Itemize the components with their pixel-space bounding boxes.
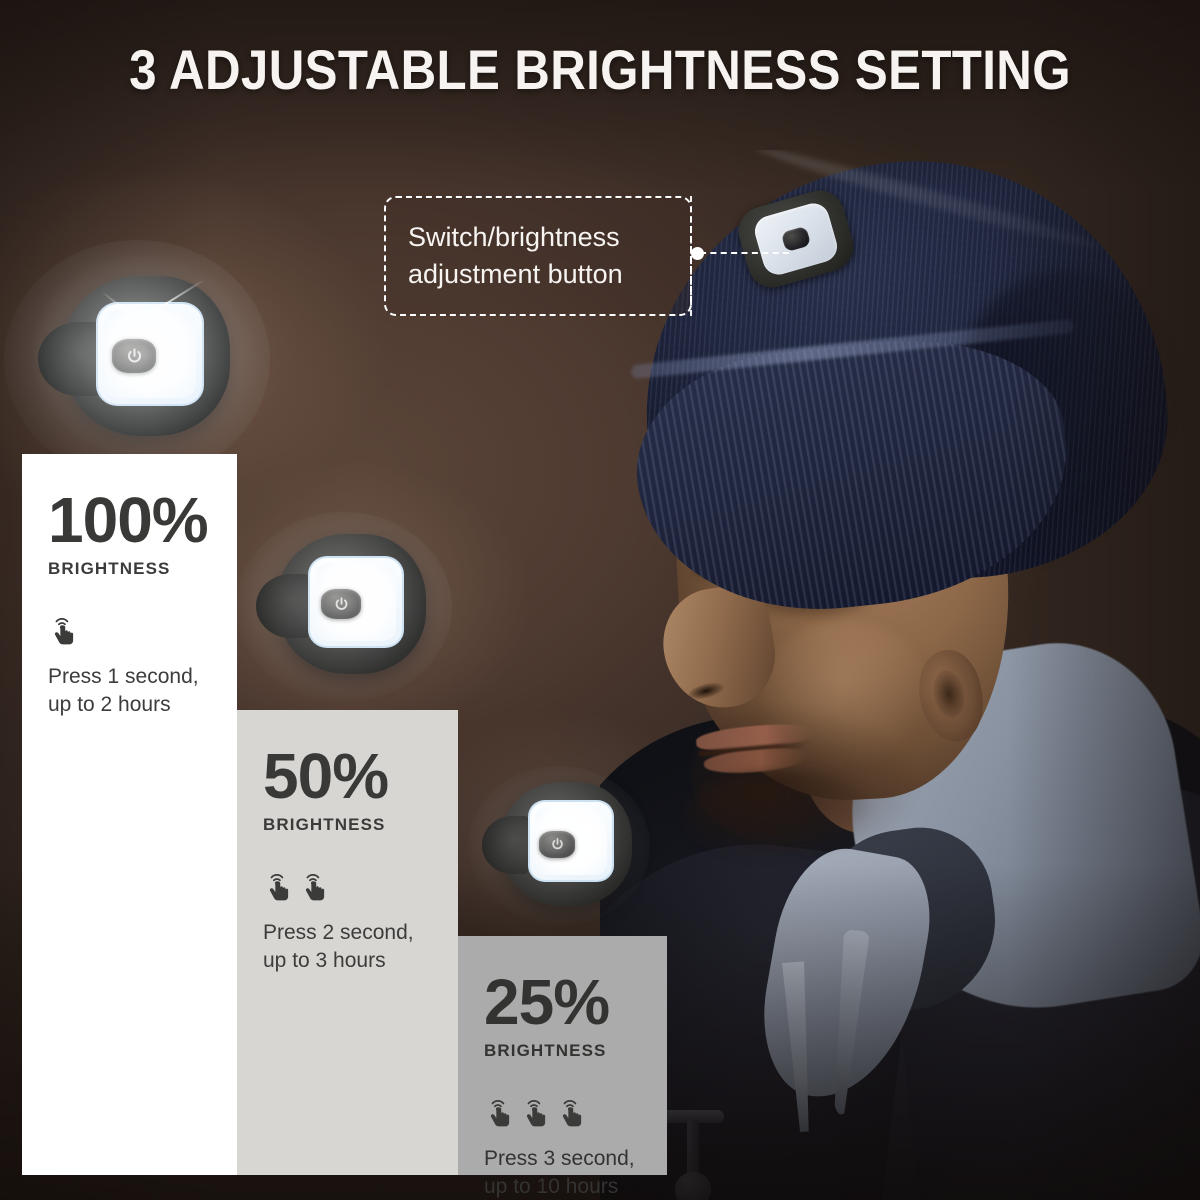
tap-gesture-icon [263, 865, 295, 903]
callout-connector-line [700, 252, 789, 254]
press-instruction-25: Press 3 second, up to 10 hours [484, 1145, 667, 1200]
press-line-2: up to 3 hours [263, 947, 458, 975]
brightness-percent-25: 25% [484, 972, 667, 1033]
press-line-2: up to 10 hours [484, 1173, 667, 1200]
led-clip-tab-25 [482, 816, 534, 874]
power-button-25[interactable] [539, 831, 575, 858]
brightness-panel-25: 25% BRIGHTNESS Press 3 second, up to 10 … [458, 936, 667, 1175]
brightness-label-25: BRIGHTNESS [484, 1041, 667, 1061]
tap-gesture-icon [48, 609, 80, 647]
callout-line-2: adjustment button [408, 256, 668, 293]
power-button-50[interactable] [321, 589, 361, 619]
power-symbol-icon [550, 837, 565, 852]
tap-gesture-icon [484, 1091, 516, 1129]
led-clip-tab-50 [256, 574, 316, 638]
press-instruction-50: Press 2 second, up to 3 hours [263, 919, 458, 975]
brightness-label-100: BRIGHTNESS [48, 559, 237, 579]
callout-line-1: Switch/brightness [408, 219, 668, 256]
tap-gesture-icon [520, 1091, 552, 1129]
power-symbol-icon [125, 347, 144, 366]
press-line-1: Press 2 second, [263, 919, 458, 947]
callout-connector-dot [691, 247, 704, 260]
power-symbol-icon [333, 596, 350, 613]
tap-icon-group-25 [484, 1091, 667, 1129]
tap-icon-group-100 [48, 609, 237, 647]
brightness-percent-100: 100% [48, 490, 237, 551]
press-line-1: Press 1 second, [48, 663, 237, 691]
led-module-50 [256, 534, 426, 674]
brightness-label-50: BRIGHTNESS [263, 815, 458, 835]
tap-gesture-icon [556, 1091, 588, 1129]
tap-gesture-icon [299, 865, 331, 903]
brightness-panel-50: 50% BRIGHTNESS Press 2 second, up to 3 h… [237, 710, 458, 1175]
brightness-percent-50: 50% [263, 746, 458, 807]
page-title: 3 ADJUSTABLE BRIGHTNESS SETTING [72, 42, 1128, 98]
press-instruction-100: Press 1 second, up to 2 hours [48, 663, 237, 719]
power-button-100[interactable] [112, 339, 156, 373]
led-module-100 [38, 276, 230, 436]
press-line-2: up to 2 hours [48, 691, 237, 719]
infographic-canvas: 3 ADJUSTABLE BRIGHTNESS SETTING Switch/b… [0, 0, 1200, 1200]
callout-connector [691, 247, 789, 260]
led-module-25 [482, 782, 632, 906]
switch-brightness-callout: Switch/brightness adjustment button [384, 196, 692, 316]
brightness-panel-100: 100% BRIGHTNESS Press 1 second, up to 2 … [22, 454, 237, 1175]
tap-icon-group-50 [263, 865, 458, 903]
press-line-1: Press 3 second, [484, 1145, 667, 1173]
